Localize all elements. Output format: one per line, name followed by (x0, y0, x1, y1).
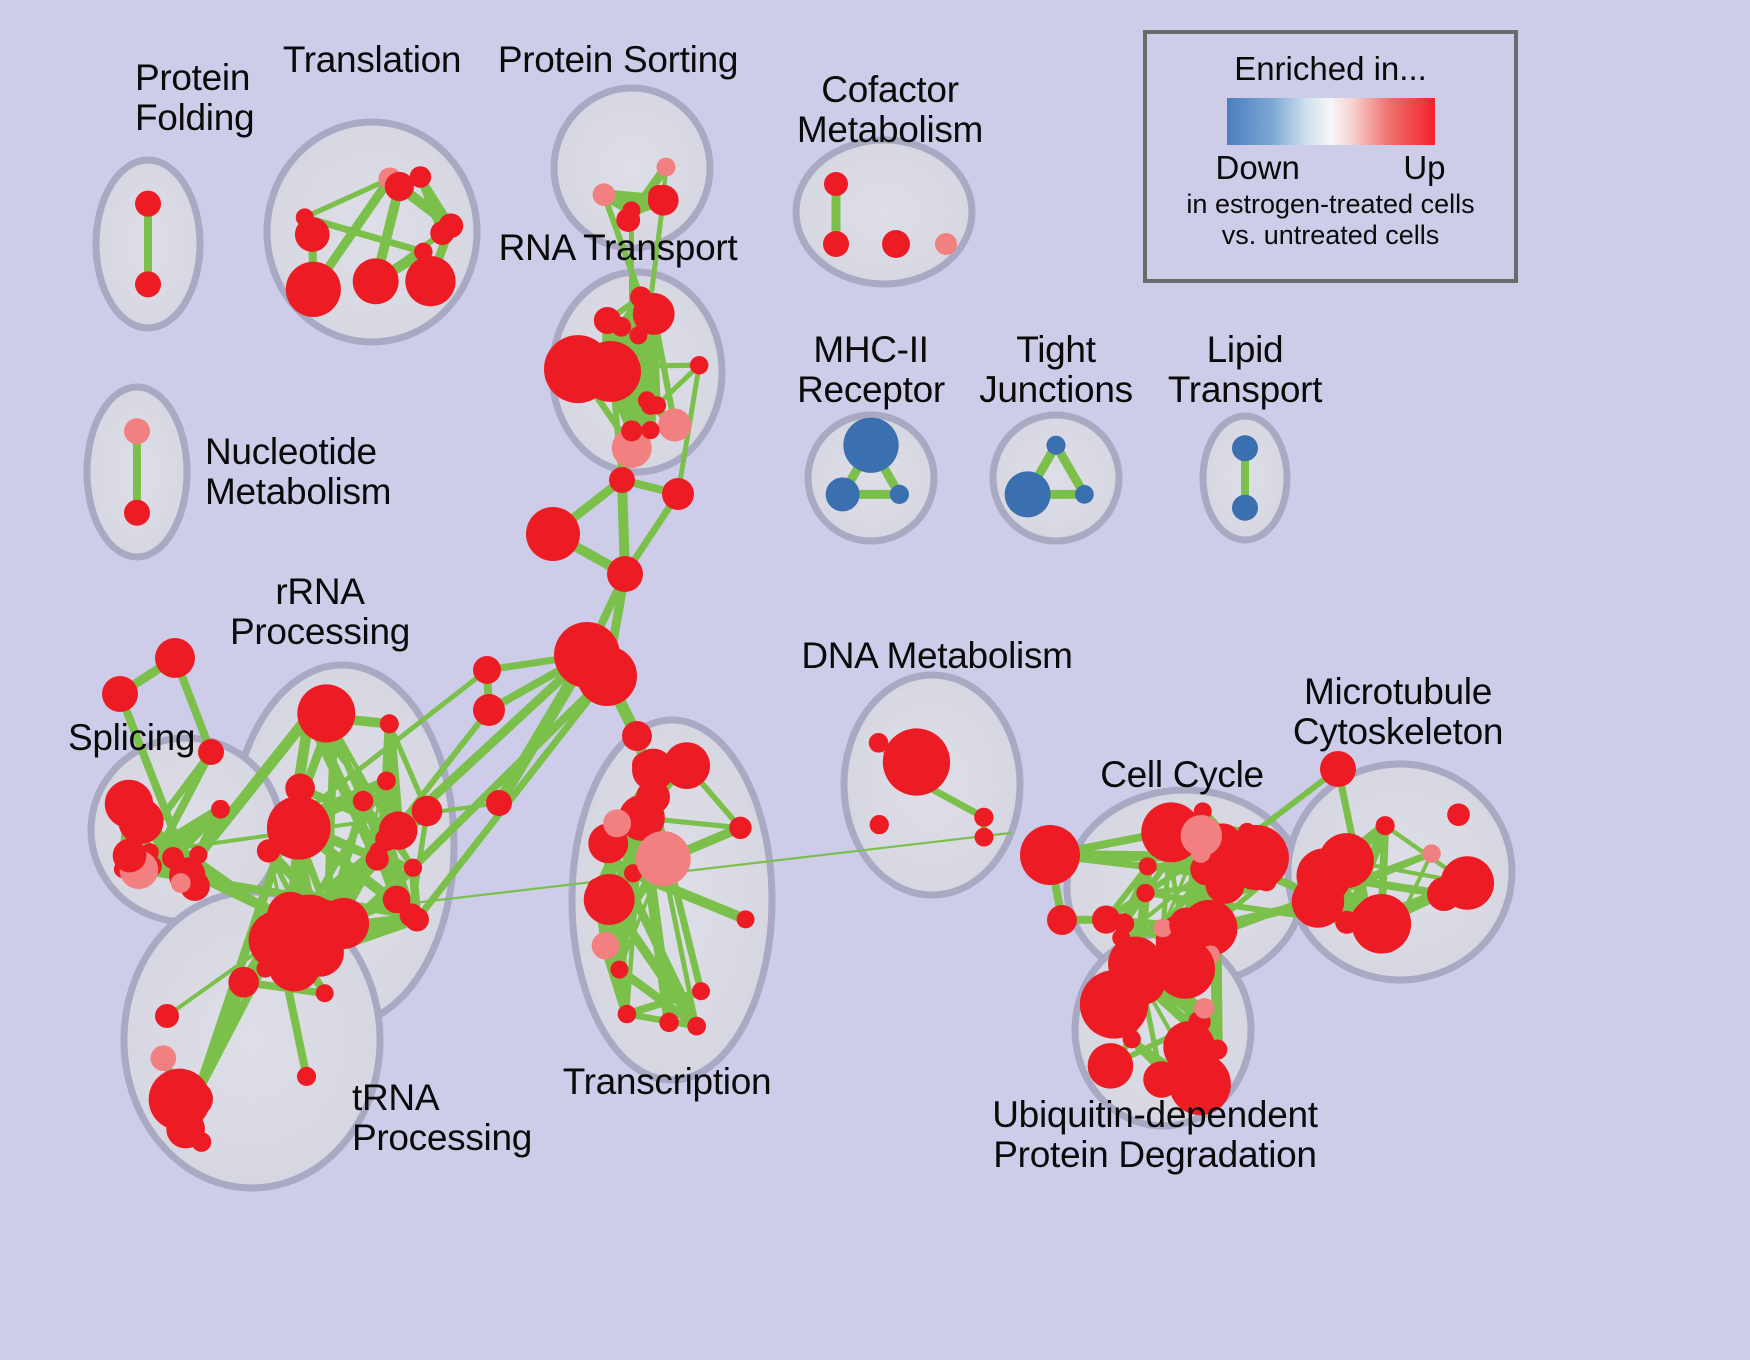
network-node (609, 467, 635, 493)
network-node (439, 213, 464, 238)
network-node (1194, 998, 1215, 1019)
network-node (379, 811, 418, 850)
legend-down-label: Down (1216, 149, 1300, 187)
network-node (621, 420, 642, 441)
network-node (883, 728, 950, 795)
legend-box: Enriched in... Down Up in estrogen-treat… (1143, 30, 1518, 283)
network-node (890, 485, 909, 504)
network-node (211, 800, 230, 819)
network-node (935, 233, 957, 255)
label-ubiquitin-protein-degradation: Ubiquitin-dependentProtein Degradation (992, 1095, 1318, 1175)
network-node (1208, 860, 1226, 878)
network-node (286, 262, 341, 317)
network-node (632, 752, 658, 778)
label-microtubule-cytoskeleton: MicrotubuleCytoskeleton (1293, 672, 1503, 752)
network-node (1181, 815, 1222, 856)
network-node (414, 243, 432, 261)
network-node (366, 847, 389, 870)
label-cofactor-metabolism: CofactorMetabolism (797, 70, 983, 150)
network-node (1155, 939, 1215, 999)
label-splicing: Splicing (68, 718, 195, 758)
network-node (149, 1069, 211, 1131)
network-node (380, 714, 399, 733)
network-node (870, 815, 889, 834)
network-node (641, 421, 659, 439)
network-node (198, 739, 224, 765)
network-node (404, 859, 422, 877)
network-node (385, 172, 414, 201)
network-node (843, 418, 898, 473)
network-node (1422, 844, 1441, 863)
network-node (687, 1017, 706, 1036)
network-node (622, 721, 652, 751)
network-node (155, 638, 195, 678)
network-node (124, 418, 150, 444)
network-node (1232, 435, 1258, 461)
network-node (486, 790, 512, 816)
network-node (882, 230, 910, 258)
network-node (869, 733, 889, 753)
network-node (610, 961, 628, 979)
network-node (1251, 849, 1280, 878)
network-node (1139, 857, 1157, 875)
network-node (1046, 436, 1065, 455)
network-node (316, 984, 334, 1002)
network-node (296, 208, 314, 226)
network-node (577, 646, 637, 706)
network-node (135, 191, 161, 217)
network-node (1232, 495, 1258, 521)
network-figure: ProteinFolding Translation Protein Sorti… (0, 0, 1750, 1360)
network-node (171, 873, 191, 893)
network-node (636, 831, 691, 886)
network-node (1075, 485, 1094, 504)
network-node (594, 355, 616, 377)
network-node (124, 500, 150, 526)
network-node (377, 771, 396, 790)
network-node (162, 847, 184, 869)
network-node (256, 960, 274, 978)
label-cell-cycle: Cell Cycle (1100, 755, 1264, 795)
network-node (1320, 751, 1356, 787)
network-node (1447, 803, 1470, 826)
label-dna-metabolism: DNA Metabolism (801, 636, 1072, 676)
network-node (1169, 907, 1203, 941)
label-protein-folding: ProteinFolding (135, 58, 254, 138)
network-node (1427, 877, 1461, 911)
legend-colorbar (1227, 98, 1435, 145)
label-lipid-transport: LipidTransport (1168, 330, 1322, 410)
network-node (180, 1072, 201, 1093)
legend-endpoints: Down Up (1216, 149, 1446, 187)
network-node (1238, 823, 1256, 841)
network-node (729, 817, 751, 839)
label-trna-processing: tRNAProcessing (352, 1078, 532, 1158)
network-node (1379, 934, 1397, 952)
network-node (1143, 1061, 1179, 1097)
network-node (1319, 833, 1374, 888)
network-node (618, 1005, 637, 1024)
network-node (975, 828, 994, 847)
network-node (151, 1045, 177, 1071)
network-node (662, 478, 694, 510)
network-node (1351, 902, 1388, 939)
network-node (526, 507, 580, 561)
network-node (155, 1004, 179, 1028)
label-rrna-processing: rRNAProcessing (230, 572, 410, 652)
label-protein-sorting: Protein Sorting (498, 40, 738, 80)
legend-up-label: Up (1403, 149, 1445, 187)
network-node (1376, 816, 1395, 835)
network-node (692, 982, 710, 1000)
label-translation: Translation (283, 40, 461, 80)
network-node (1154, 919, 1173, 938)
network-node (1047, 905, 1077, 935)
network-node (611, 317, 631, 337)
network-node (641, 395, 661, 415)
network-node (823, 231, 849, 257)
network-node (192, 1132, 212, 1152)
network-node (633, 293, 675, 335)
network-node (690, 356, 709, 375)
label-mhc-ii-receptor: MHC-IIReceptor (797, 330, 945, 410)
network-node (826, 477, 860, 511)
legend-subtitle-line1: in estrogen-treated cells (1186, 189, 1474, 220)
network-node (228, 967, 259, 998)
network-node (297, 1067, 316, 1086)
label-tight-junctions: TightJunctions (979, 330, 1133, 410)
network-node (353, 258, 399, 304)
network-node (353, 791, 374, 812)
network-node (316, 690, 354, 728)
network-node (648, 185, 669, 206)
network-node (636, 780, 670, 814)
network-node (412, 796, 443, 827)
network-node (603, 809, 631, 837)
legend-title: Enriched in... (1234, 50, 1427, 88)
network-node (592, 932, 620, 960)
network-node (587, 878, 608, 899)
network-node (113, 839, 147, 873)
network-node (102, 676, 138, 712)
label-transcription: Transcription (563, 1062, 772, 1102)
legend-subtitle: in estrogen-treated cells vs. untreated … (1186, 189, 1474, 251)
network-node (473, 694, 505, 726)
network-node (473, 656, 501, 684)
network-node (135, 271, 161, 297)
network-node (737, 910, 755, 928)
network-node (658, 409, 691, 442)
label-nucleotide-metabolism: NucleotideMetabolism (205, 432, 391, 512)
network-node (659, 1013, 679, 1033)
network-node (1020, 825, 1080, 885)
network-node (405, 256, 455, 306)
network-node (257, 839, 280, 862)
network-node (383, 886, 411, 914)
network-node (656, 158, 675, 177)
network-node (105, 780, 153, 828)
label-rna-transport: RNA Transport (499, 228, 738, 268)
cluster-hull (796, 140, 972, 284)
network-node (593, 183, 616, 206)
network-node (249, 911, 308, 970)
network-node (1088, 1043, 1133, 1088)
network-node (974, 808, 993, 827)
network-node (1005, 471, 1051, 517)
network-node (824, 172, 848, 196)
network-node (1136, 884, 1154, 902)
network-node (607, 556, 643, 592)
legend-subtitle-line2: vs. untreated cells (1186, 220, 1474, 251)
